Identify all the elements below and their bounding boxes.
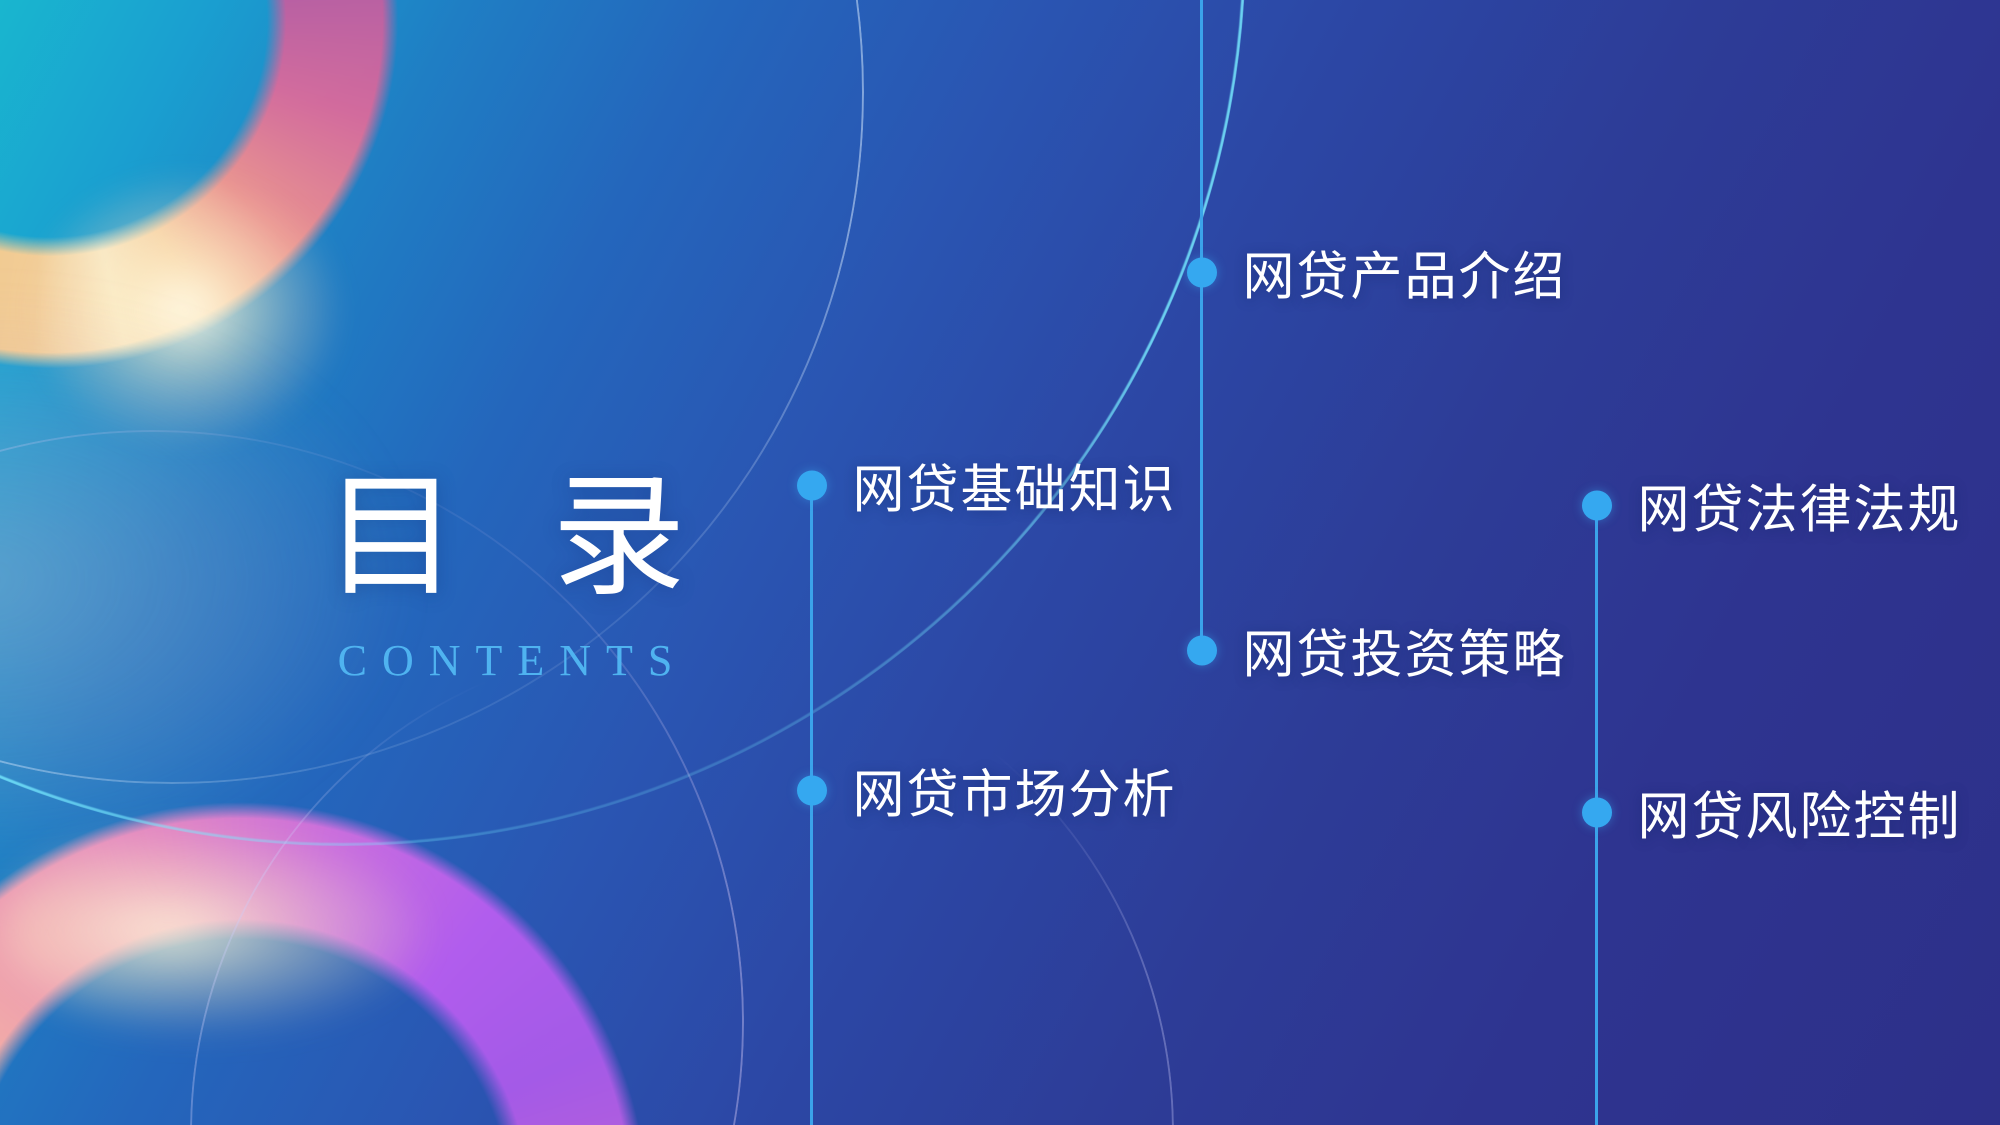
bullet-dot-icon — [1187, 635, 1217, 665]
toc-item-5[interactable]: 网贷法律法规 — [1595, 468, 1962, 543]
toc-item-label: 网贷风险控制 — [1638, 775, 1962, 850]
bullet-dot-icon — [1582, 797, 1612, 827]
toc-item-4[interactable]: 网贷投资策略 — [1200, 613, 1567, 688]
ring-bottom-left-glow — [0, 830, 420, 1030]
toc-item-label: 网贷基础知识 — [853, 448, 1177, 523]
toc-item-label: 网贷投资策略 — [1243, 613, 1567, 688]
bullet-dot-icon — [1582, 490, 1612, 520]
ring-bottom-left-icon — [0, 800, 650, 1125]
page-title: 目 录 — [270, 470, 740, 607]
page-subtitle: CONTENTS — [270, 635, 740, 686]
pale-arc-bottom2-icon — [190, 640, 1174, 1125]
toc-item-2[interactable]: 网贷市场分析 — [810, 753, 1177, 828]
toc-item-1[interactable]: 网贷基础知识 — [810, 448, 1177, 523]
toc-item-label: 网贷法律法规 — [1638, 468, 1962, 543]
bullet-dot-icon — [1187, 257, 1217, 287]
ring-top-left-icon — [0, 0, 400, 370]
presentation-slide: 目 录 CONTENTS 网贷基础知识 网贷市场分析 网贷产品介绍 网贷投资策略 — [0, 0, 2000, 1125]
cyan-arc-icon — [0, 0, 1246, 846]
toc-item-3[interactable]: 网贷产品介绍 — [1200, 235, 1567, 310]
toc-item-label: 网贷市场分析 — [853, 753, 1177, 828]
bullet-dot-icon — [797, 470, 827, 500]
title-block: 目 录 CONTENTS — [270, 470, 740, 686]
toc-connector-line — [1200, 0, 1203, 660]
toc-item-6[interactable]: 网贷风险控制 — [1595, 775, 1962, 850]
bullet-dot-icon — [797, 775, 827, 805]
ring-top-left-glow — [35, 180, 335, 440]
toc-item-label: 网贷产品介绍 — [1243, 235, 1567, 310]
